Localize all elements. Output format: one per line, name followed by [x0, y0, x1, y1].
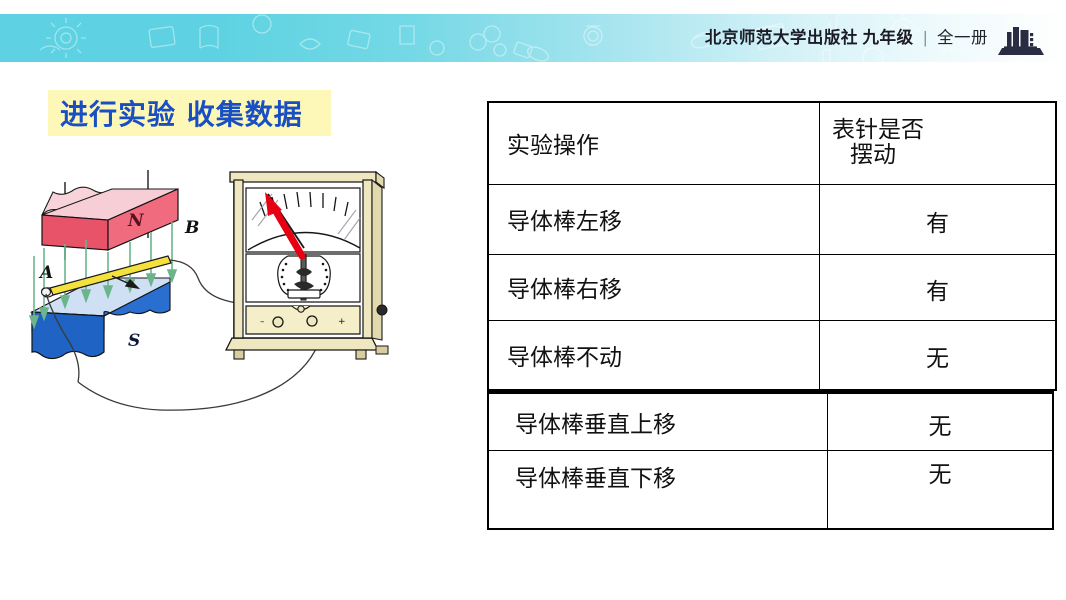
cell-operation: 导体棒垂直下移 [488, 451, 828, 529]
table-row: 导体棒垂直下移 无 [488, 451, 1053, 529]
volume-label: 全一册 [937, 29, 988, 47]
svg-text:+: + [338, 317, 346, 327]
cell-operation: 导体棒不动 [488, 320, 820, 390]
cell-operation: 导体棒垂直上移 [488, 393, 828, 451]
terminal-left [273, 317, 283, 327]
page-title: 进行实验 收集数据 [48, 93, 303, 133]
cell-result: 无 [828, 393, 1054, 451]
cell-result: 无 [828, 451, 1054, 529]
terminal-a-label: A [38, 263, 53, 283]
table-row: 导体棒垂直上移 无 [488, 393, 1053, 451]
table-row: 导体棒左移 有 [488, 184, 1056, 254]
meter-movement [278, 254, 331, 300]
cell-operation: 导体棒右移 [488, 254, 820, 320]
terminal-b-label: B [184, 218, 199, 238]
books-shelf-icon [998, 24, 1044, 58]
header-result-line2: 摆动 [832, 143, 1054, 169]
results-table-block-b: 导体棒垂直上移 无 导体棒垂直下移 无 [487, 391, 1054, 530]
cell-operation: 导体棒左移 [488, 184, 820, 254]
table-row: 导体棒右移 有 [488, 254, 1056, 320]
north-magnet: N [42, 187, 178, 250]
grade-label: 九年级 [863, 29, 914, 47]
table-header-row: 实验操作 表针是否 摆动 [488, 102, 1056, 184]
cell-result: 有 [820, 254, 1057, 320]
header-title: 北京师范大学出版社 九年级 | 全一册 [705, 28, 988, 48]
cell-result: 无 [820, 320, 1057, 390]
experiment-diagram: S N A B [20, 160, 465, 415]
header-band: 北京师范大学出版社 九年级 | 全一册 [0, 14, 1066, 62]
publisher-label: 北京师范大学出版社 [705, 29, 858, 47]
header-cell-operation: 实验操作 [488, 102, 820, 184]
svg-text:–: – [260, 317, 265, 327]
header-cell-result: 表针是否 摆动 [820, 102, 1057, 184]
galvanometer: – + [226, 172, 388, 359]
header-result-line1: 表针是否 [832, 117, 924, 143]
cell-result: 有 [820, 184, 1057, 254]
experiment-results-table: 实验操作 表针是否 摆动 导体棒左移 有 导体棒右移 有 导体棒不动 无 [487, 101, 1022, 530]
table-row: 导体棒不动 无 [488, 320, 1056, 390]
terminal-right [307, 316, 317, 326]
south-pole-label: S [128, 331, 140, 351]
section-title-chip: 进行实验 收集数据 [48, 90, 331, 136]
header-separator: | [923, 29, 927, 47]
results-table-block-a: 实验操作 表针是否 摆动 导体棒左移 有 导体棒右移 有 导体棒不动 无 [487, 101, 1057, 391]
north-pole-label: N [127, 211, 145, 231]
